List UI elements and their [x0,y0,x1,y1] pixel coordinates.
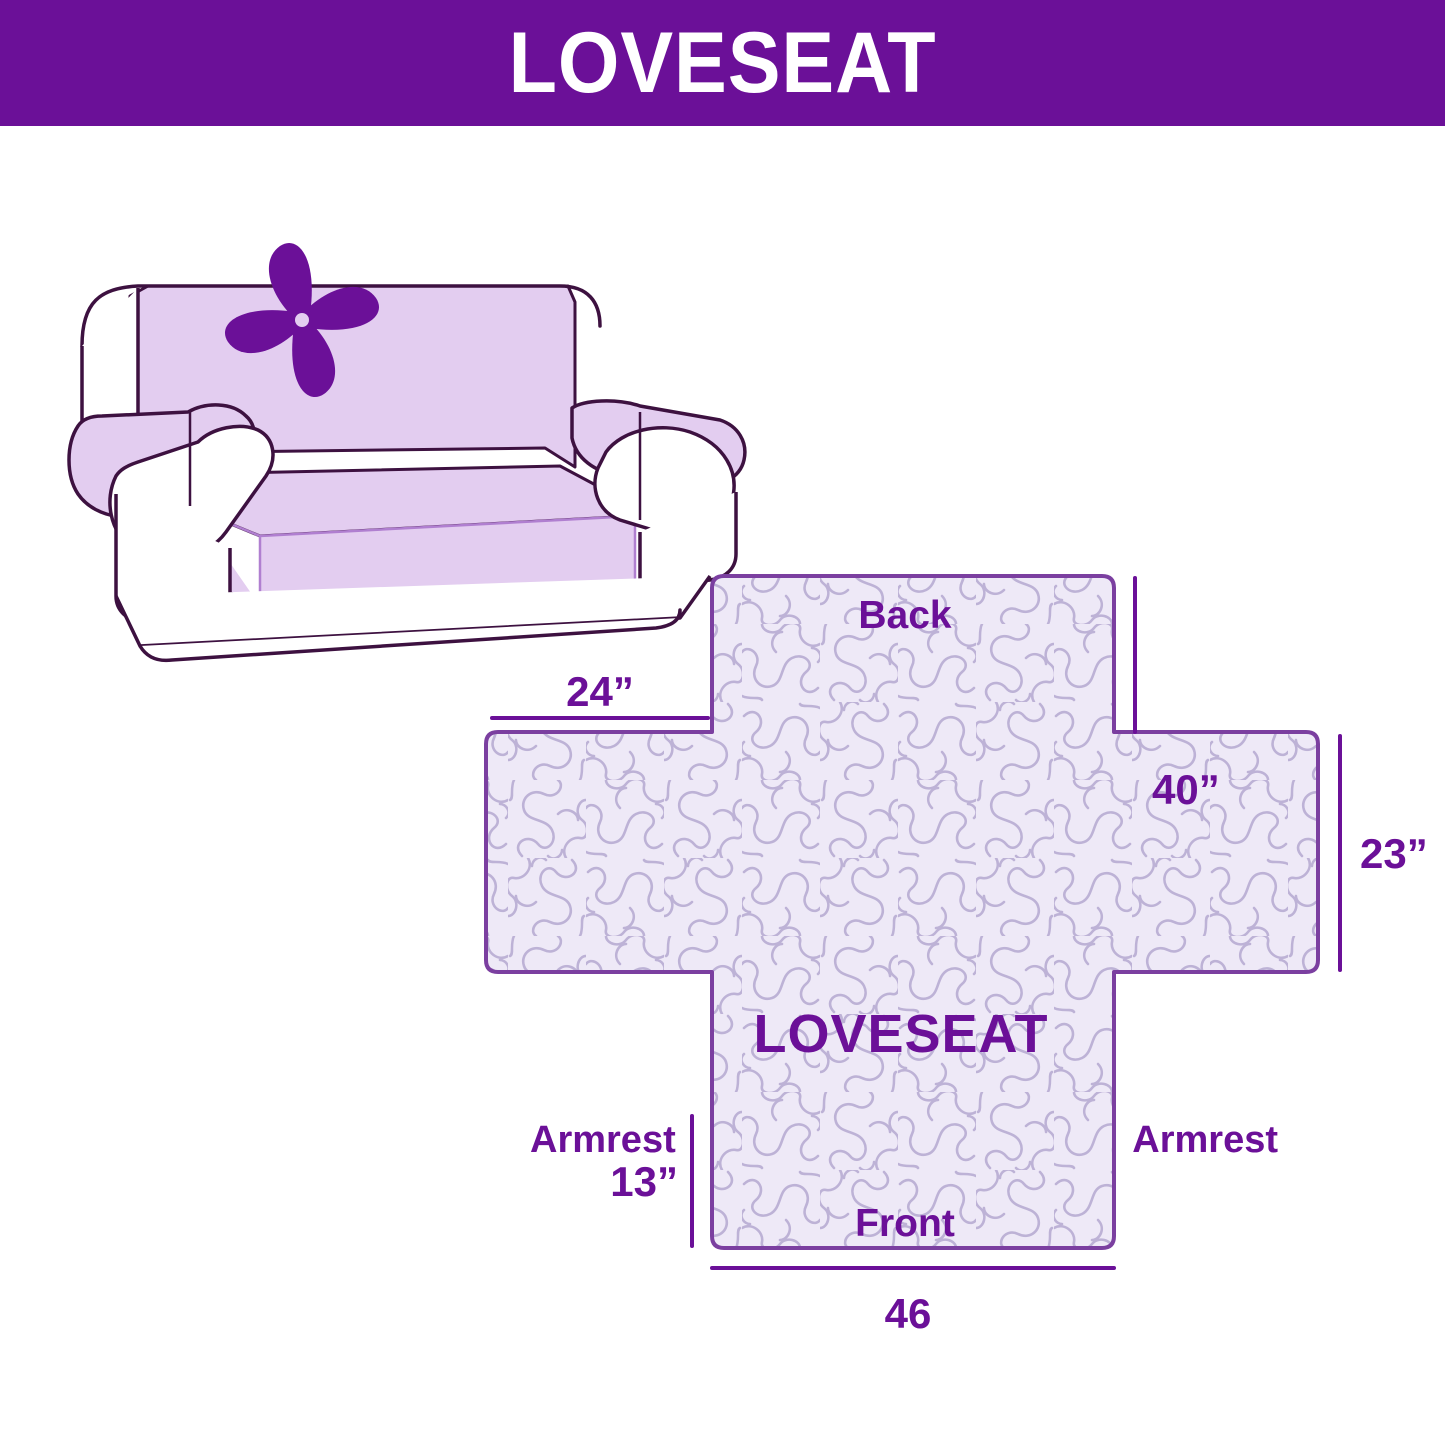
label-center-loveseat: LOVESEAT [753,1004,1048,1064]
dimension-armrest-depth: 23” [1360,830,1428,877]
header-banner: LOVESEAT [0,0,1445,126]
dimension-front-height: 13” [610,1158,678,1205]
illustration-area: Back LOVESEAT Armrest Armrest Front 40” … [0,126,1445,1445]
page-title: LOVESEAT [509,20,937,106]
pattern-diagram: Back LOVESEAT Armrest Armrest Front 40” … [430,546,1445,1376]
label-back: Back [858,594,952,637]
label-front: Front [855,1202,955,1245]
dimension-back-height: 40” [1152,766,1220,813]
label-armrest-right: Armrest [1132,1119,1278,1161]
label-armrest-left: Armrest [530,1119,676,1161]
dimension-front-width: 46 [885,1290,932,1337]
dimension-back-offset: 24” [566,668,634,715]
